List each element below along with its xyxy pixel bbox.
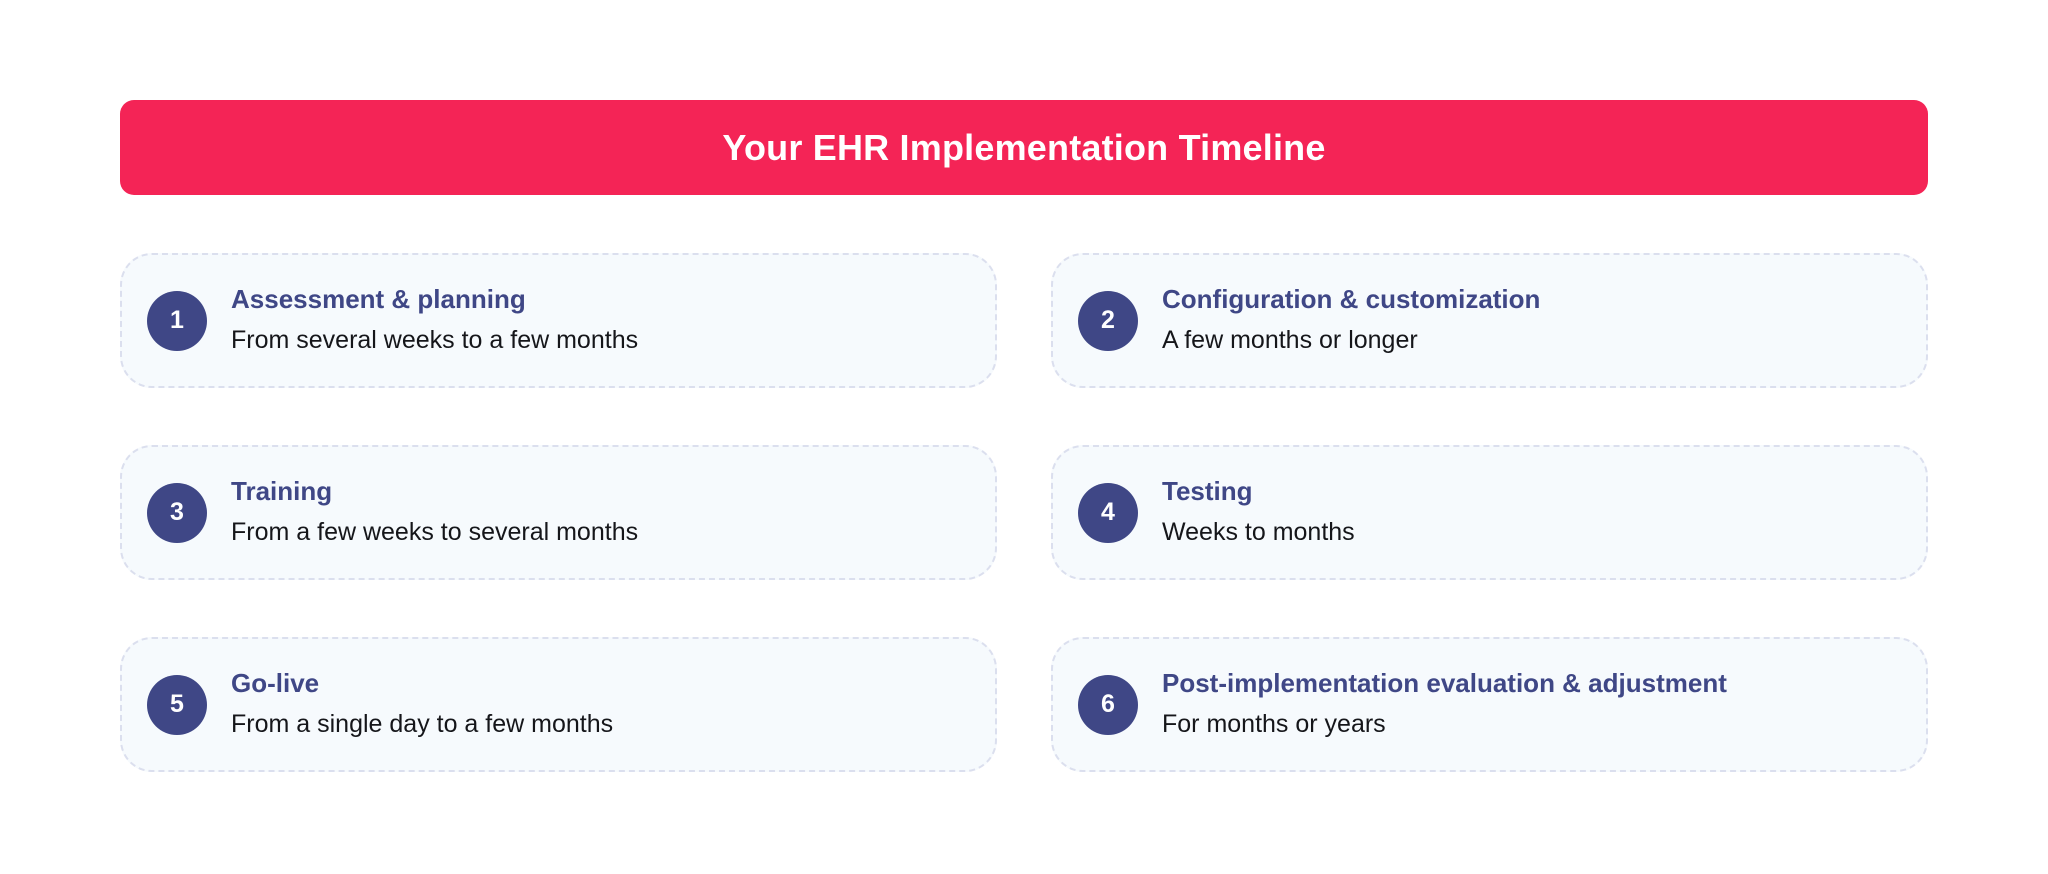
step-duration-2: A few months or longer [1162,326,1540,355]
timeline-step-card-1: 1 Assessment & planning From several wee… [120,253,997,388]
step-text-block-2: Configuration & customization A few mont… [1162,285,1540,357]
step-number-label: 1 [170,308,184,333]
timeline-step-card-5: 5 Go-live From a single day to a few mon… [120,637,997,772]
step-number-badge-6: 6 [1078,675,1138,735]
timeline-step-card-4: 4 Testing Weeks to months [1051,445,1928,580]
step-duration-5: From a single day to a few months [231,710,613,739]
step-title-1: Assessment & planning [231,285,638,315]
step-text-block-5: Go-live From a single day to a few month… [231,669,613,741]
step-number-label: 5 [170,692,184,717]
infographic-page: Your EHR Implementation Timeline 1 Asses… [0,0,2048,874]
step-number-label: 6 [1101,692,1115,717]
step-duration-6: For months or years [1162,710,1727,739]
step-duration-1: From several weeks to a few months [231,326,638,355]
step-title-2: Configuration & customization [1162,285,1540,315]
step-title-6: Post-implementation evaluation & adjustm… [1162,669,1727,699]
step-title-3: Training [231,477,638,507]
step-number-label: 4 [1101,500,1115,525]
timeline-steps-grid: 1 Assessment & planning From several wee… [120,253,1928,772]
step-number-badge-3: 3 [147,483,207,543]
step-text-block-3: Training From a few weeks to several mon… [231,477,638,549]
step-number-badge-4: 4 [1078,483,1138,543]
step-number-badge-2: 2 [1078,291,1138,351]
step-number-badge-1: 1 [147,291,207,351]
header-banner: Your EHR Implementation Timeline [120,100,1928,195]
step-number-label: 3 [170,500,184,525]
step-title-5: Go-live [231,669,613,699]
step-text-block-6: Post-implementation evaluation & adjustm… [1162,669,1727,741]
timeline-step-card-3: 3 Training From a few weeks to several m… [120,445,997,580]
step-number-badge-5: 5 [147,675,207,735]
timeline-step-card-6: 6 Post-implementation evaluation & adjus… [1051,637,1928,772]
timeline-step-card-2: 2 Configuration & customization A few mo… [1051,253,1928,388]
step-text-block-1: Assessment & planning From several weeks… [231,285,638,357]
page-title: Your EHR Implementation Timeline [722,130,1325,166]
step-text-block-4: Testing Weeks to months [1162,477,1355,549]
step-duration-4: Weeks to months [1162,518,1355,547]
step-duration-3: From a few weeks to several months [231,518,638,547]
step-number-label: 2 [1101,308,1115,333]
step-title-4: Testing [1162,477,1355,507]
